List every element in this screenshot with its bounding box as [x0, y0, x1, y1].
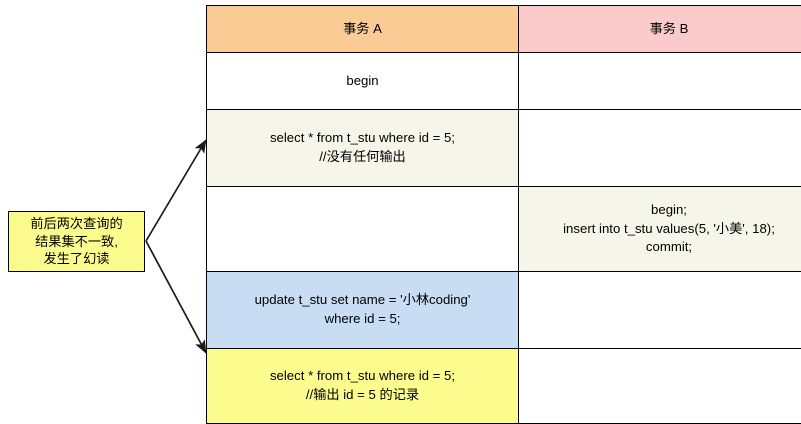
column-header-transaction-b: 事务 B — [519, 6, 801, 53]
column-header-transaction-a: 事务 A — [207, 6, 519, 53]
cell-line: insert into t_stu values(5, '小美', 18); — [525, 220, 801, 239]
note-line: 结果集不一致, — [35, 233, 118, 250]
table-row: select * from t_stu where id = 5; //没有任何… — [207, 110, 801, 187]
cell-a-update: update t_stu set name = '小林coding' where… — [207, 272, 519, 349]
cell-line: select * from t_stu where id = 5; — [213, 129, 512, 148]
cell-b-empty-1 — [519, 53, 801, 110]
cell-line: begin — [213, 72, 512, 91]
cell-line: //没有任何输出 — [213, 148, 512, 167]
table-row: begin — [207, 53, 801, 110]
cell-line: //输出 id = 5 的记录 — [213, 386, 512, 405]
cell-a-empty-1 — [207, 187, 519, 272]
cell-line: commit; — [525, 238, 801, 257]
table-row: begin; insert into t_stu values(5, '小美',… — [207, 187, 801, 272]
cell-b-empty-4 — [519, 349, 801, 424]
arrow-note-to-first-select — [146, 140, 206, 241]
cell-b-empty-3 — [519, 272, 801, 349]
note-line: 前后两次查询的 — [30, 215, 122, 232]
cell-b-empty-2 — [519, 110, 801, 187]
cell-line: begin; — [525, 201, 801, 220]
table-row: select * from t_stu where id = 5; //输出 i… — [207, 349, 801, 424]
cell-line: update t_stu set name = '小林coding' — [213, 291, 512, 310]
phantom-read-note: 前后两次查询的 结果集不一致, 发生了幻读 — [8, 211, 145, 272]
note-line: 发生了幻读 — [44, 250, 110, 267]
cell-a-second-select: select * from t_stu where id = 5; //输出 i… — [207, 349, 519, 424]
cell-b-insert-commit: begin; insert into t_stu values(5, '小美',… — [519, 187, 801, 272]
transaction-comparison-table: 事务 A 事务 B begin select * from t_stu wher… — [206, 5, 801, 424]
table-row: update t_stu set name = '小林coding' where… — [207, 272, 801, 349]
cell-a-first-select: select * from t_stu where id = 5; //没有任何… — [207, 110, 519, 187]
arrow-note-to-second-select — [146, 241, 206, 353]
cell-a-begin: begin — [207, 53, 519, 110]
table-header-row: 事务 A 事务 B — [207, 6, 801, 53]
cell-line: select * from t_stu where id = 5; — [213, 367, 512, 386]
diagram-canvas: 事务 A 事务 B begin select * from t_stu wher… — [0, 0, 801, 401]
cell-line: where id = 5; — [213, 310, 512, 329]
